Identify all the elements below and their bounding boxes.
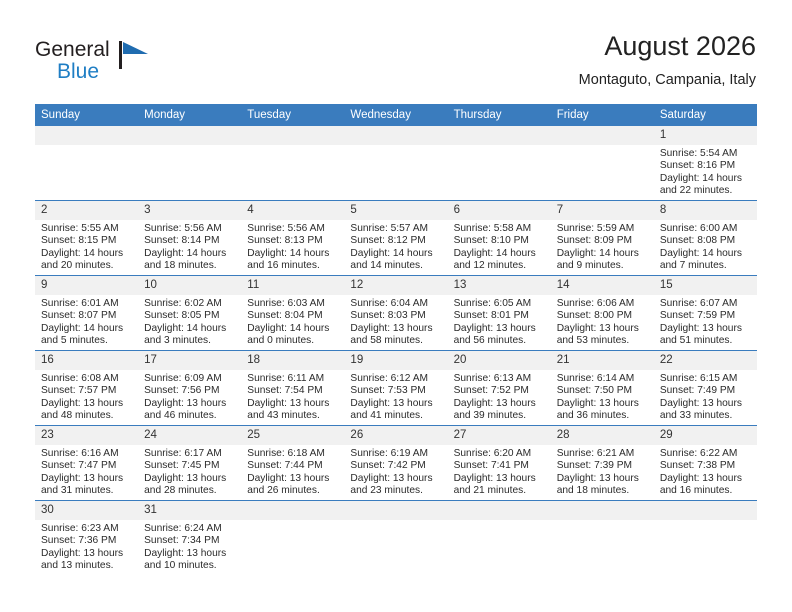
weekday-header-monday: Monday — [138, 104, 241, 126]
day-sun-info: Sunrise: 6:19 AMSunset: 7:42 PMDaylight:… — [344, 445, 447, 498]
day-sun-info: Sunrise: 5:56 AMSunset: 8:14 PMDaylight:… — [138, 220, 241, 273]
day-number — [448, 501, 551, 520]
daylight-duration-line2: and 16 minutes. — [247, 260, 340, 272]
day-sun-info: Sunrise: 5:58 AMSunset: 8:10 PMDaylight:… — [448, 220, 551, 273]
sunset-time: Sunset: 7:50 PM — [557, 385, 650, 397]
calendar-week-row: 23Sunrise: 6:16 AMSunset: 7:47 PMDayligh… — [35, 426, 757, 501]
day-sun-info: Sunrise: 6:01 AMSunset: 8:07 PMDaylight:… — [35, 295, 138, 348]
day-number: 10 — [138, 276, 241, 295]
sunset-time: Sunset: 8:04 PM — [247, 310, 340, 322]
day-number: 26 — [344, 426, 447, 445]
calendar-day-cell[interactable] — [241, 501, 344, 576]
sunset-time: Sunset: 7:54 PM — [247, 385, 340, 397]
daylight-duration-line2: and 51 minutes. — [660, 335, 753, 347]
day-number: 4 — [241, 201, 344, 220]
sunset-time: Sunset: 7:57 PM — [41, 385, 134, 397]
sunset-time: Sunset: 7:52 PM — [454, 385, 547, 397]
day-number: 25 — [241, 426, 344, 445]
day-number: 20 — [448, 351, 551, 370]
calendar-day-cell[interactable]: 9Sunrise: 6:01 AMSunset: 8:07 PMDaylight… — [35, 276, 138, 351]
day-cell-content — [35, 126, 138, 200]
calendar-day-cell[interactable]: 4Sunrise: 5:56 AMSunset: 8:13 PMDaylight… — [241, 201, 344, 276]
daylight-duration-line1: Daylight: 14 hours — [660, 248, 753, 260]
daylight-duration-line1: Daylight: 13 hours — [247, 473, 340, 485]
day-cell-content: 26Sunrise: 6:19 AMSunset: 7:42 PMDayligh… — [344, 426, 447, 500]
sunrise-time: Sunrise: 6:01 AM — [41, 298, 134, 310]
daylight-duration-line2: and 7 minutes. — [660, 260, 753, 272]
sunset-time: Sunset: 7:44 PM — [247, 460, 340, 472]
day-cell-content: 12Sunrise: 6:04 AMSunset: 8:03 PMDayligh… — [344, 276, 447, 350]
day-sun-info: Sunrise: 6:16 AMSunset: 7:47 PMDaylight:… — [35, 445, 138, 498]
calendar-day-cell[interactable]: 8Sunrise: 6:00 AMSunset: 8:08 PMDaylight… — [654, 201, 757, 276]
sunset-time: Sunset: 7:59 PM — [660, 310, 753, 322]
daylight-duration-line1: Daylight: 13 hours — [660, 473, 753, 485]
sunrise-time: Sunrise: 6:07 AM — [660, 298, 753, 310]
sunrise-time: Sunrise: 6:08 AM — [41, 373, 134, 385]
daylight-duration-line2: and 28 minutes. — [144, 485, 237, 497]
sunrise-time: Sunrise: 6:19 AM — [350, 448, 443, 460]
sunset-time: Sunset: 8:16 PM — [660, 160, 753, 172]
day-number: 30 — [35, 501, 138, 520]
page-subtitle: Montaguto, Campania, Italy — [579, 70, 756, 90]
day-number — [654, 501, 757, 520]
day-number: 17 — [138, 351, 241, 370]
day-number: 7 — [551, 201, 654, 220]
day-number: 5 — [344, 201, 447, 220]
calendar-week-row: 30Sunrise: 6:23 AMSunset: 7:36 PMDayligh… — [35, 501, 757, 576]
day-number: 28 — [551, 426, 654, 445]
day-sun-info: Sunrise: 6:20 AMSunset: 7:41 PMDaylight:… — [448, 445, 551, 498]
day-cell-content: 11Sunrise: 6:03 AMSunset: 8:04 PMDayligh… — [241, 276, 344, 350]
day-cell-content — [448, 501, 551, 575]
day-number: 2 — [35, 201, 138, 220]
calendar-day-cell[interactable]: 3Sunrise: 5:56 AMSunset: 8:14 PMDaylight… — [138, 201, 241, 276]
sunrise-time: Sunrise: 5:58 AM — [454, 223, 547, 235]
daylight-duration-line1: Daylight: 13 hours — [41, 548, 134, 560]
day-cell-content: 20Sunrise: 6:13 AMSunset: 7:52 PMDayligh… — [448, 351, 551, 425]
calendar-day-cell[interactable]: 30Sunrise: 6:23 AMSunset: 7:36 PMDayligh… — [35, 501, 138, 576]
sunrise-time: Sunrise: 6:16 AM — [41, 448, 134, 460]
day-cell-content: 29Sunrise: 6:22 AMSunset: 7:38 PMDayligh… — [654, 426, 757, 500]
daylight-duration-line1: Daylight: 14 hours — [350, 248, 443, 260]
day-sun-info: Sunrise: 6:07 AMSunset: 7:59 PMDaylight:… — [654, 295, 757, 348]
daylight-duration-line2: and 16 minutes. — [660, 485, 753, 497]
day-cell-content: 28Sunrise: 6:21 AMSunset: 7:39 PMDayligh… — [551, 426, 654, 500]
flag-triangle-icon — [119, 41, 149, 69]
daylight-duration-line1: Daylight: 13 hours — [660, 323, 753, 335]
day-number: 12 — [344, 276, 447, 295]
day-number: 9 — [35, 276, 138, 295]
sunrise-time: Sunrise: 6:00 AM — [660, 223, 753, 235]
brand-name-general: General — [35, 38, 110, 62]
day-cell-content: 17Sunrise: 6:09 AMSunset: 7:56 PMDayligh… — [138, 351, 241, 425]
day-number — [551, 126, 654, 145]
day-sun-info: Sunrise: 6:11 AMSunset: 7:54 PMDaylight:… — [241, 370, 344, 423]
calendar-day-cell[interactable]: 1Sunrise: 5:54 AMSunset: 8:16 PMDaylight… — [654, 126, 757, 201]
sunrise-time: Sunrise: 5:54 AM — [660, 148, 753, 160]
sunset-time: Sunset: 7:36 PM — [41, 535, 134, 547]
sunrise-time: Sunrise: 5:57 AM — [350, 223, 443, 235]
day-number: 18 — [241, 351, 344, 370]
sunrise-time: Sunrise: 6:24 AM — [144, 523, 237, 535]
sunset-time: Sunset: 7:47 PM — [41, 460, 134, 472]
calendar-day-cell[interactable] — [551, 501, 654, 576]
day-cell-content — [654, 501, 757, 575]
day-sun-info: Sunrise: 6:22 AMSunset: 7:38 PMDaylight:… — [654, 445, 757, 498]
calendar-header-row: Sunday Monday Tuesday Wednesday Thursday… — [35, 104, 757, 126]
day-cell-content: 8Sunrise: 6:00 AMSunset: 8:08 PMDaylight… — [654, 201, 757, 275]
calendar-body: 1Sunrise: 5:54 AMSunset: 8:16 PMDaylight… — [35, 126, 757, 575]
sunset-time: Sunset: 8:13 PM — [247, 235, 340, 247]
daylight-duration-line2: and 39 minutes. — [454, 410, 547, 422]
daylight-duration-line1: Daylight: 13 hours — [247, 398, 340, 410]
daylight-duration-line1: Daylight: 13 hours — [557, 398, 650, 410]
sunset-time: Sunset: 8:01 PM — [454, 310, 547, 322]
day-sun-info: Sunrise: 6:12 AMSunset: 7:53 PMDaylight:… — [344, 370, 447, 423]
sunrise-time: Sunrise: 6:15 AM — [660, 373, 753, 385]
daylight-duration-line2: and 41 minutes. — [350, 410, 443, 422]
sunset-time: Sunset: 8:09 PM — [557, 235, 650, 247]
calendar-day-cell[interactable] — [448, 126, 551, 201]
daylight-duration-line2: and 21 minutes. — [454, 485, 547, 497]
calendar-day-cell[interactable]: 16Sunrise: 6:08 AMSunset: 7:57 PMDayligh… — [35, 351, 138, 426]
day-number — [551, 501, 654, 520]
day-sun-info: Sunrise: 6:15 AMSunset: 7:49 PMDaylight:… — [654, 370, 757, 423]
calendar-day-cell[interactable] — [35, 126, 138, 201]
calendar-day-cell[interactable] — [344, 126, 447, 201]
daylight-duration-line1: Daylight: 14 hours — [660, 173, 753, 185]
daylight-duration-line2: and 46 minutes. — [144, 410, 237, 422]
day-number: 11 — [241, 276, 344, 295]
day-number — [241, 126, 344, 145]
day-number: 1 — [654, 126, 757, 145]
calendar-day-cell[interactable]: 10Sunrise: 6:02 AMSunset: 8:05 PMDayligh… — [138, 276, 241, 351]
sunrise-time: Sunrise: 6:03 AM — [247, 298, 340, 310]
sunrise-time: Sunrise: 6:13 AM — [454, 373, 547, 385]
calendar-day-cell[interactable]: 6Sunrise: 5:58 AMSunset: 8:10 PMDaylight… — [448, 201, 551, 276]
day-cell-content — [448, 126, 551, 200]
calendar-day-cell[interactable] — [138, 126, 241, 201]
sunset-time: Sunset: 8:15 PM — [41, 235, 134, 247]
daylight-duration-line1: Daylight: 14 hours — [144, 323, 237, 335]
day-number: 31 — [138, 501, 241, 520]
sunset-time: Sunset: 7:39 PM — [557, 460, 650, 472]
day-sun-info: Sunrise: 6:02 AMSunset: 8:05 PMDaylight:… — [138, 295, 241, 348]
day-cell-content: 30Sunrise: 6:23 AMSunset: 7:36 PMDayligh… — [35, 501, 138, 575]
calendar-table: Sunday Monday Tuesday Wednesday Thursday… — [35, 104, 757, 575]
day-number — [35, 126, 138, 145]
daylight-duration-line1: Daylight: 14 hours — [41, 248, 134, 260]
day-number: 29 — [654, 426, 757, 445]
day-cell-content: 21Sunrise: 6:14 AMSunset: 7:50 PMDayligh… — [551, 351, 654, 425]
daylight-duration-line2: and 0 minutes. — [247, 335, 340, 347]
calendar-week-row: 9Sunrise: 6:01 AMSunset: 8:07 PMDaylight… — [35, 276, 757, 351]
weekday-header-sunday: Sunday — [35, 104, 138, 126]
day-cell-content: 31Sunrise: 6:24 AMSunset: 7:34 PMDayligh… — [138, 501, 241, 575]
daylight-duration-line1: Daylight: 13 hours — [144, 398, 237, 410]
sunset-time: Sunset: 8:10 PM — [454, 235, 547, 247]
day-cell-content: 9Sunrise: 6:01 AMSunset: 8:07 PMDaylight… — [35, 276, 138, 350]
calendar-day-cell[interactable]: 5Sunrise: 5:57 AMSunset: 8:12 PMDaylight… — [344, 201, 447, 276]
weekday-header-tuesday: Tuesday — [241, 104, 344, 126]
day-cell-content: 19Sunrise: 6:12 AMSunset: 7:53 PMDayligh… — [344, 351, 447, 425]
day-sun-info: Sunrise: 5:57 AMSunset: 8:12 PMDaylight:… — [344, 220, 447, 273]
sunrise-time: Sunrise: 6:20 AM — [454, 448, 547, 460]
calendar-day-cell[interactable]: 28Sunrise: 6:21 AMSunset: 7:39 PMDayligh… — [551, 426, 654, 501]
day-number: 21 — [551, 351, 654, 370]
calendar-day-cell[interactable]: 7Sunrise: 5:59 AMSunset: 8:09 PMDaylight… — [551, 201, 654, 276]
calendar-day-cell[interactable]: 12Sunrise: 6:04 AMSunset: 8:03 PMDayligh… — [344, 276, 447, 351]
daylight-duration-line1: Daylight: 14 hours — [41, 323, 134, 335]
sunrise-time: Sunrise: 6:22 AM — [660, 448, 753, 460]
day-sun-info: Sunrise: 6:24 AMSunset: 7:34 PMDaylight:… — [138, 520, 241, 573]
day-number: 13 — [448, 276, 551, 295]
day-cell-content: 13Sunrise: 6:05 AMSunset: 8:01 PMDayligh… — [448, 276, 551, 350]
day-number: 8 — [654, 201, 757, 220]
calendar-day-cell[interactable]: 23Sunrise: 6:16 AMSunset: 7:47 PMDayligh… — [35, 426, 138, 501]
daylight-duration-line2: and 56 minutes. — [454, 335, 547, 347]
day-cell-content: 14Sunrise: 6:06 AMSunset: 8:00 PMDayligh… — [551, 276, 654, 350]
day-cell-content: 15Sunrise: 6:07 AMSunset: 7:59 PMDayligh… — [654, 276, 757, 350]
day-cell-content: 27Sunrise: 6:20 AMSunset: 7:41 PMDayligh… — [448, 426, 551, 500]
calendar-page: General Blue August 2026 Montaguto, Camp… — [0, 0, 792, 612]
calendar-day-cell[interactable]: 25Sunrise: 6:18 AMSunset: 7:44 PMDayligh… — [241, 426, 344, 501]
day-sun-info: Sunrise: 6:13 AMSunset: 7:52 PMDaylight:… — [448, 370, 551, 423]
daylight-duration-line2: and 43 minutes. — [247, 410, 340, 422]
daylight-duration-line1: Daylight: 14 hours — [557, 248, 650, 260]
daylight-duration-line1: Daylight: 14 hours — [247, 248, 340, 260]
day-number: 19 — [344, 351, 447, 370]
page-title: August 2026 — [579, 30, 756, 62]
sunrise-time: Sunrise: 5:55 AM — [41, 223, 134, 235]
daylight-duration-line2: and 53 minutes. — [557, 335, 650, 347]
sunset-time: Sunset: 8:14 PM — [144, 235, 237, 247]
sunrise-time: Sunrise: 6:23 AM — [41, 523, 134, 535]
day-cell-content: 25Sunrise: 6:18 AMSunset: 7:44 PMDayligh… — [241, 426, 344, 500]
sunset-time: Sunset: 8:08 PM — [660, 235, 753, 247]
sunrise-time: Sunrise: 6:21 AM — [557, 448, 650, 460]
day-cell-content: 2Sunrise: 5:55 AMSunset: 8:15 PMDaylight… — [35, 201, 138, 275]
calendar-day-cell[interactable]: 26Sunrise: 6:19 AMSunset: 7:42 PMDayligh… — [344, 426, 447, 501]
day-sun-info: Sunrise: 6:05 AMSunset: 8:01 PMDaylight:… — [448, 295, 551, 348]
day-number: 27 — [448, 426, 551, 445]
day-cell-content: 18Sunrise: 6:11 AMSunset: 7:54 PMDayligh… — [241, 351, 344, 425]
day-cell-content — [138, 126, 241, 200]
daylight-duration-line1: Daylight: 13 hours — [41, 398, 134, 410]
day-sun-info: Sunrise: 5:54 AMSunset: 8:16 PMDaylight:… — [654, 145, 757, 198]
calendar-day-cell[interactable] — [654, 501, 757, 576]
day-sun-info: Sunrise: 6:00 AMSunset: 8:08 PMDaylight:… — [654, 220, 757, 273]
sunset-time: Sunset: 7:56 PM — [144, 385, 237, 397]
sunrise-time: Sunrise: 6:02 AM — [144, 298, 237, 310]
weekday-header-wednesday: Wednesday — [344, 104, 447, 126]
calendar-day-cell[interactable]: 2Sunrise: 5:55 AMSunset: 8:15 PMDaylight… — [35, 201, 138, 276]
sunset-time: Sunset: 8:03 PM — [350, 310, 443, 322]
day-cell-content: 16Sunrise: 6:08 AMSunset: 7:57 PMDayligh… — [35, 351, 138, 425]
day-sun-info: Sunrise: 6:21 AMSunset: 7:39 PMDaylight:… — [551, 445, 654, 498]
daylight-duration-line2: and 18 minutes. — [144, 260, 237, 272]
day-number: 16 — [35, 351, 138, 370]
day-sun-info: Sunrise: 6:06 AMSunset: 8:00 PMDaylight:… — [551, 295, 654, 348]
sunset-time: Sunset: 7:53 PM — [350, 385, 443, 397]
day-sun-info: Sunrise: 6:04 AMSunset: 8:03 PMDaylight:… — [344, 295, 447, 348]
calendar-week-row: 1Sunrise: 5:54 AMSunset: 8:16 PMDaylight… — [35, 126, 757, 201]
day-number: 14 — [551, 276, 654, 295]
sunset-time: Sunset: 7:49 PM — [660, 385, 753, 397]
calendar-day-cell[interactable]: 14Sunrise: 6:06 AMSunset: 8:00 PMDayligh… — [551, 276, 654, 351]
sunrise-time: Sunrise: 6:06 AM — [557, 298, 650, 310]
sunrise-time: Sunrise: 6:05 AM — [454, 298, 547, 310]
day-sun-info: Sunrise: 5:59 AMSunset: 8:09 PMDaylight:… — [551, 220, 654, 273]
daylight-duration-line2: and 14 minutes. — [350, 260, 443, 272]
brand-name-blue: Blue — [57, 60, 99, 84]
daylight-duration-line2: and 20 minutes. — [41, 260, 134, 272]
sunset-time: Sunset: 8:00 PM — [557, 310, 650, 322]
daylight-duration-line2: and 12 minutes. — [454, 260, 547, 272]
calendar-day-cell[interactable]: 20Sunrise: 6:13 AMSunset: 7:52 PMDayligh… — [448, 351, 551, 426]
day-sun-info: Sunrise: 6:23 AMSunset: 7:36 PMDaylight:… — [35, 520, 138, 573]
daylight-duration-line1: Daylight: 13 hours — [454, 473, 547, 485]
daylight-duration-line2: and 36 minutes. — [557, 410, 650, 422]
calendar-day-cell[interactable]: 19Sunrise: 6:12 AMSunset: 7:53 PMDayligh… — [344, 351, 447, 426]
daylight-duration-line1: Daylight: 13 hours — [454, 398, 547, 410]
day-cell-content: 4Sunrise: 5:56 AMSunset: 8:13 PMDaylight… — [241, 201, 344, 275]
weekday-header-saturday: Saturday — [654, 104, 757, 126]
sunrise-time: Sunrise: 6:14 AM — [557, 373, 650, 385]
daylight-duration-line1: Daylight: 13 hours — [41, 473, 134, 485]
calendar-day-cell[interactable]: 29Sunrise: 6:22 AMSunset: 7:38 PMDayligh… — [654, 426, 757, 501]
daylight-duration-line1: Daylight: 13 hours — [557, 323, 650, 335]
daylight-duration-line1: Daylight: 13 hours — [350, 323, 443, 335]
weekday-header-thursday: Thursday — [448, 104, 551, 126]
daylight-duration-line2: and 58 minutes. — [350, 335, 443, 347]
day-cell-content: 1Sunrise: 5:54 AMSunset: 8:16 PMDaylight… — [654, 126, 757, 200]
daylight-duration-line2: and 33 minutes. — [660, 410, 753, 422]
sunrise-time: Sunrise: 6:17 AM — [144, 448, 237, 460]
day-number: 23 — [35, 426, 138, 445]
daylight-duration-line2: and 48 minutes. — [41, 410, 134, 422]
calendar-day-cell[interactable]: 18Sunrise: 6:11 AMSunset: 7:54 PMDayligh… — [241, 351, 344, 426]
day-cell-content — [551, 501, 654, 575]
sunrise-time: Sunrise: 6:11 AM — [247, 373, 340, 385]
day-number — [138, 126, 241, 145]
calendar-day-cell[interactable]: 17Sunrise: 6:09 AMSunset: 7:56 PMDayligh… — [138, 351, 241, 426]
day-number: 22 — [654, 351, 757, 370]
calendar-day-cell[interactable]: 24Sunrise: 6:17 AMSunset: 7:45 PMDayligh… — [138, 426, 241, 501]
day-cell-content: 23Sunrise: 6:16 AMSunset: 7:47 PMDayligh… — [35, 426, 138, 500]
sunrise-time: Sunrise: 6:09 AM — [144, 373, 237, 385]
sunrise-time: Sunrise: 5:56 AM — [247, 223, 340, 235]
daylight-duration-line1: Daylight: 13 hours — [454, 323, 547, 335]
daylight-duration-line1: Daylight: 13 hours — [144, 548, 237, 560]
sunrise-time: Sunrise: 6:12 AM — [350, 373, 443, 385]
day-number — [344, 501, 447, 520]
calendar-week-row: 2Sunrise: 5:55 AMSunset: 8:15 PMDaylight… — [35, 201, 757, 276]
calendar-day-cell[interactable] — [448, 501, 551, 576]
daylight-duration-line2: and 26 minutes. — [247, 485, 340, 497]
sunset-time: Sunset: 8:12 PM — [350, 235, 443, 247]
calendar-day-cell[interactable] — [241, 126, 344, 201]
daylight-duration-line1: Daylight: 13 hours — [144, 473, 237, 485]
day-number — [344, 126, 447, 145]
day-sun-info: Sunrise: 5:55 AMSunset: 8:15 PMDaylight:… — [35, 220, 138, 273]
day-sun-info: Sunrise: 6:08 AMSunset: 7:57 PMDaylight:… — [35, 370, 138, 423]
sunrise-time: Sunrise: 6:18 AM — [247, 448, 340, 460]
daylight-duration-line1: Daylight: 13 hours — [350, 473, 443, 485]
day-sun-info: Sunrise: 5:56 AMSunset: 8:13 PMDaylight:… — [241, 220, 344, 273]
daylight-duration-line2: and 31 minutes. — [41, 485, 134, 497]
daylight-duration-line2: and 10 minutes. — [144, 560, 237, 572]
day-number: 15 — [654, 276, 757, 295]
page-header: General Blue August 2026 Montaguto, Camp… — [0, 0, 792, 104]
calendar-week-row: 16Sunrise: 6:08 AMSunset: 7:57 PMDayligh… — [35, 351, 757, 426]
calendar-day-cell[interactable] — [344, 501, 447, 576]
daylight-duration-line1: Daylight: 14 hours — [247, 323, 340, 335]
day-number: 24 — [138, 426, 241, 445]
calendar-day-cell[interactable] — [551, 126, 654, 201]
sunset-time: Sunset: 7:34 PM — [144, 535, 237, 547]
sunrise-time: Sunrise: 6:04 AM — [350, 298, 443, 310]
sunrise-time: Sunrise: 5:56 AM — [144, 223, 237, 235]
sunset-time: Sunset: 8:05 PM — [144, 310, 237, 322]
day-sun-info: Sunrise: 6:03 AMSunset: 8:04 PMDaylight:… — [241, 295, 344, 348]
daylight-duration-line2: and 22 minutes. — [660, 185, 753, 197]
daylight-duration-line2: and 3 minutes. — [144, 335, 237, 347]
sunrise-time: Sunrise: 5:59 AM — [557, 223, 650, 235]
calendar-day-cell[interactable]: 31Sunrise: 6:24 AMSunset: 7:34 PMDayligh… — [138, 501, 241, 576]
day-cell-content — [241, 126, 344, 200]
daylight-duration-line1: Daylight: 13 hours — [350, 398, 443, 410]
sunset-time: Sunset: 7:41 PM — [454, 460, 547, 472]
daylight-duration-line1: Daylight: 13 hours — [557, 473, 650, 485]
day-cell-content — [551, 126, 654, 200]
day-sun-info: Sunrise: 6:14 AMSunset: 7:50 PMDaylight:… — [551, 370, 654, 423]
sunset-time: Sunset: 7:38 PM — [660, 460, 753, 472]
day-number — [448, 126, 551, 145]
calendar-day-cell[interactable]: 27Sunrise: 6:20 AMSunset: 7:41 PMDayligh… — [448, 426, 551, 501]
daylight-duration-line2: and 23 minutes. — [350, 485, 443, 497]
daylight-duration-line2: and 5 minutes. — [41, 335, 134, 347]
weekday-header-friday: Friday — [551, 104, 654, 126]
day-cell-content: 7Sunrise: 5:59 AMSunset: 8:09 PMDaylight… — [551, 201, 654, 275]
day-cell-content — [344, 501, 447, 575]
calendar-day-cell[interactable]: 21Sunrise: 6:14 AMSunset: 7:50 PMDayligh… — [551, 351, 654, 426]
day-cell-content: 10Sunrise: 6:02 AMSunset: 8:05 PMDayligh… — [138, 276, 241, 350]
daylight-duration-line1: Daylight: 14 hours — [454, 248, 547, 260]
day-number: 6 — [448, 201, 551, 220]
day-cell-content: 22Sunrise: 6:15 AMSunset: 7:49 PMDayligh… — [654, 351, 757, 425]
day-cell-content: 6Sunrise: 5:58 AMSunset: 8:10 PMDaylight… — [448, 201, 551, 275]
calendar-day-cell[interactable]: 22Sunrise: 6:15 AMSunset: 7:49 PMDayligh… — [654, 351, 757, 426]
day-number — [241, 501, 344, 520]
title-block: August 2026 Montaguto, Campania, Italy — [579, 30, 756, 90]
day-sun-info: Sunrise: 6:09 AMSunset: 7:56 PMDaylight:… — [138, 370, 241, 423]
sunset-time: Sunset: 8:07 PM — [41, 310, 134, 322]
daylight-duration-line2: and 9 minutes. — [557, 260, 650, 272]
sunset-time: Sunset: 7:45 PM — [144, 460, 237, 472]
brand-logo[interactable]: General Blue — [35, 38, 165, 86]
sunset-time: Sunset: 7:42 PM — [350, 460, 443, 472]
day-sun-info: Sunrise: 6:18 AMSunset: 7:44 PMDaylight:… — [241, 445, 344, 498]
day-cell-content: 3Sunrise: 5:56 AMSunset: 8:14 PMDaylight… — [138, 201, 241, 275]
calendar-day-cell[interactable]: 13Sunrise: 6:05 AMSunset: 8:01 PMDayligh… — [448, 276, 551, 351]
day-cell-content: 5Sunrise: 5:57 AMSunset: 8:12 PMDaylight… — [344, 201, 447, 275]
day-number: 3 — [138, 201, 241, 220]
calendar-day-cell[interactable]: 11Sunrise: 6:03 AMSunset: 8:04 PMDayligh… — [241, 276, 344, 351]
calendar-day-cell[interactable]: 15Sunrise: 6:07 AMSunset: 7:59 PMDayligh… — [654, 276, 757, 351]
daylight-duration-line1: Daylight: 13 hours — [660, 398, 753, 410]
day-cell-content: 24Sunrise: 6:17 AMSunset: 7:45 PMDayligh… — [138, 426, 241, 500]
